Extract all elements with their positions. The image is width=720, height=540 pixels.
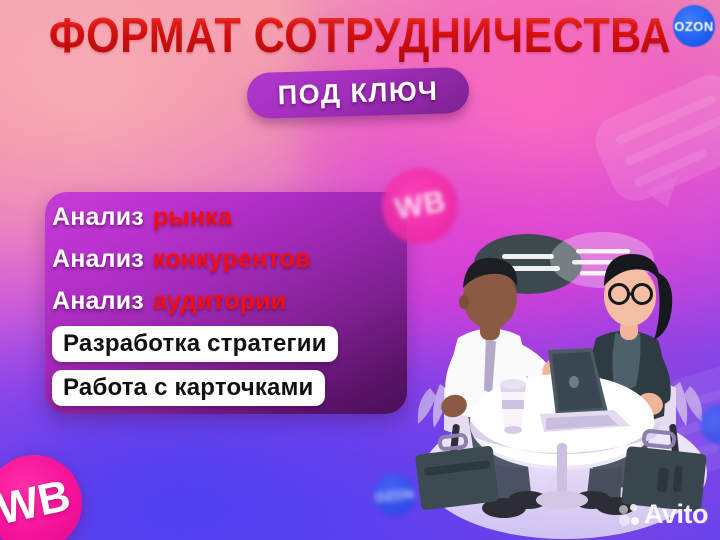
list-item: Анализ аудитории [52, 280, 422, 322]
avito-watermark: Avito [619, 499, 708, 530]
plant-right-decor [672, 382, 702, 426]
turnkey-badge: ПОД КЛЮЧ [246, 67, 469, 119]
turnkey-badge-label: ПОД КЛЮЧ [277, 75, 438, 110]
promo-banner: ФОРМАТ СОТРУДНИЧЕСТВА ПОД КЛЮЧ Анализ ры… [0, 0, 720, 540]
list-item: Анализ рынка [52, 196, 422, 238]
list-item: Разработка стратегии [52, 322, 422, 366]
ozon-logo-label: OZON [375, 485, 416, 504]
ozon-logo-label: OZON [674, 19, 714, 34]
service-highlight: рынка [153, 203, 232, 232]
avito-watermark-label: Avito [644, 499, 708, 530]
ozon-logo-blurred: OZON [374, 474, 416, 516]
avito-dots-icon [619, 504, 639, 526]
wb-logo-blurred: WB [382, 168, 458, 244]
ozon-logo: OZON [673, 5, 715, 47]
service-highlight: Разработка стратегии [63, 330, 327, 358]
service-highlight: Работа с карточками [63, 374, 314, 402]
service-highlight: аудитории [153, 287, 286, 316]
business-meeting-illustration [400, 228, 720, 540]
service-prefix: Анализ [52, 287, 144, 316]
list-item: Анализ конкурентов [52, 238, 422, 280]
service-prefix: Анализ [52, 245, 144, 274]
service-prefix: Анализ [52, 203, 144, 232]
service-highlight: конкурентов [153, 245, 311, 274]
service-pill: Работа с карточками [52, 370, 325, 406]
services-list: Анализ рынка Анализ конкурентов Анализ а… [52, 196, 422, 410]
coffee-cup [500, 379, 526, 434]
wb-logo-label: WB [392, 185, 448, 227]
service-pill: Разработка стратегии [52, 326, 338, 362]
list-item: Работа с карточками [52, 366, 422, 410]
wb-logo-label: WB [0, 471, 75, 535]
page-title: ФОРМАТ СОТРУДНИЧЕСТВА [43, 8, 677, 64]
